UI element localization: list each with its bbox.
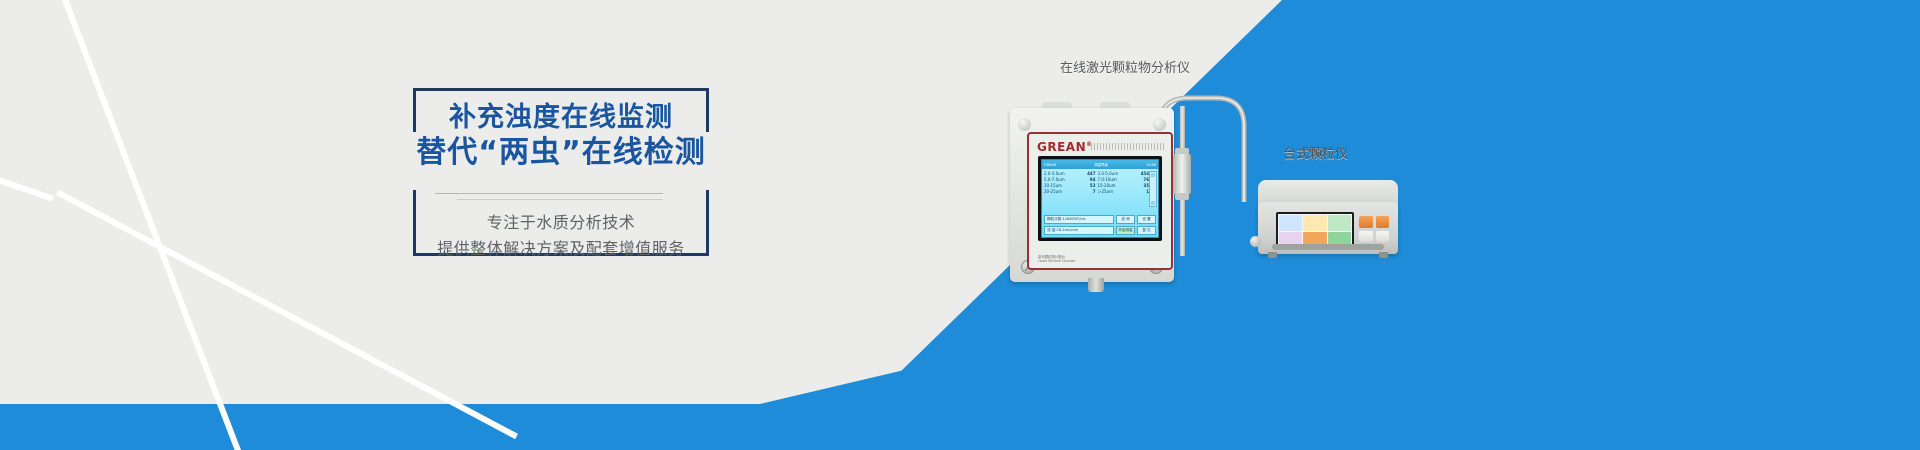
table-cell-range: 2.0-3.0um: [1044, 171, 1069, 176]
bench-screen-tile: [1279, 215, 1302, 231]
table-cell-count: 7: [1071, 189, 1096, 195]
page-title: 补充浊度在线监测 替代“两虫”在线检测: [413, 102, 709, 172]
bench-key[interactable]: [1359, 216, 1373, 228]
table-cell-count: 1: [1124, 189, 1149, 195]
table-cell-range: 10-15um: [1044, 183, 1069, 188]
headline-block: 补充浊度在线监测 替代“两虫”在线检测 专注于水质分析技术 提供整体解决方案及配…: [413, 88, 709, 256]
bench-foot: [1268, 252, 1277, 258]
online-laser-particle-analyzer: GREAN® GREAN 测量界面 10:46 2.0-3.0um 447: [1004, 100, 1180, 290]
analyzer-lcd[interactable]: GREAN 测量界面 10:46 2.0-3.0um 447 3.0-5.0um…: [1038, 156, 1162, 241]
headline-line-1: 补充浊度在线监测: [413, 102, 709, 135]
analyzer-model-en: Laser Particle Counter: [1038, 259, 1075, 264]
settings-button[interactable]: 设 置: [1137, 215, 1156, 224]
lcd-header-center: 测量界面: [1094, 162, 1108, 167]
lcd-row: 颗粒计数:1166CNT/mL 查 询 设 置: [1044, 215, 1156, 224]
particle-count-table: 2.0-3.0um 447 3.0-5.0um 454 5.0-7.0um 94…: [1044, 171, 1149, 195]
analyzer-cable-gland: [1088, 278, 1104, 292]
table-cell-range: ＞25um: [1098, 189, 1123, 195]
table-cell-count: 94: [1071, 177, 1096, 182]
bench-key[interactable]: [1376, 216, 1390, 228]
divider-lower: [457, 199, 663, 200]
headline-line-2: 替代“两虫”在线检测: [413, 135, 709, 172]
analyzer-vent-hatching: [1091, 143, 1164, 150]
benchtop-particle-counter: [1258, 180, 1398, 265]
table-cell-range: 3.0-5.0um: [1098, 171, 1123, 176]
analyzer-sensor-cap-bottom: [1175, 193, 1189, 200]
brand-name: GREAN: [1037, 140, 1086, 154]
divider-upper: [435, 193, 663, 194]
decorative-diagonal-line-1: [58, 0, 343, 450]
lcd-row: 流 量:78.2mL/min 开始测量 复 位: [1044, 226, 1156, 235]
bench-body: [1258, 202, 1398, 254]
table-cell-range: 7.0-10um: [1098, 177, 1123, 182]
lcd-status-rows: 颗粒计数:1166CNT/mL 查 询 设 置 流 量:78.2mL/min 开…: [1044, 213, 1156, 235]
table-cell-count: 76: [1124, 177, 1149, 182]
particle-count-field: 颗粒计数:1166CNT/mL: [1044, 215, 1114, 224]
bench-keypad[interactable]: [1359, 216, 1389, 242]
analyzer-sensor-cylinder: [1173, 154, 1191, 194]
analyzer-front-bezel: GREAN® GREAN 测量界面 10:46 2.0-3.0um 447: [1027, 132, 1173, 270]
table-cell-count: 52: [1071, 183, 1096, 188]
bench-key[interactable]: [1359, 231, 1373, 243]
subtitle-line-1: 专注于水质分析技术: [413, 210, 709, 236]
table-cell-count: 35: [1124, 183, 1149, 188]
subtitle-line-2: 提供整体解决方案及配套增值服务: [413, 236, 709, 262]
bench-foot: [1379, 252, 1388, 258]
table-cell-range: 5.0-7.0um: [1044, 177, 1069, 182]
bench-front-slot: [1272, 244, 1384, 250]
analyzer-enclosure: GREAN® GREAN 测量界面 10:46 2.0-3.0um 447: [1010, 108, 1174, 282]
table-cell-range: 20-25um: [1044, 189, 1069, 195]
bench-screen-tile: [1328, 215, 1351, 231]
table-cell-count: 454: [1124, 171, 1149, 176]
lcd-header-left: GREAN: [1044, 163, 1056, 167]
product-label-bench-counter: 台式颗粒仪: [1283, 143, 1348, 162]
query-button[interactable]: 查 询: [1116, 215, 1135, 224]
lcd-header-right: 10:46: [1146, 163, 1156, 167]
bench-screen-tile: [1303, 215, 1326, 231]
brand-logo: GREAN®: [1037, 140, 1093, 154]
background-blue-bottom-bar: [0, 404, 1920, 450]
promo-banner: 补充浊度在线监测 替代“两虫”在线检测 专注于水质分析技术 提供整体解决方案及配…: [0, 0, 1920, 450]
lcd-scrollbar[interactable]: [1149, 171, 1157, 207]
table-cell-range: 15-20um: [1098, 183, 1123, 188]
table-cell-count: 447: [1071, 171, 1096, 176]
decorative-diagonal-line-3: [0, 53, 54, 202]
analyzer-model-caption: 激光颗粒物计数仪 Laser Particle Counter: [1038, 255, 1075, 264]
bench-key[interactable]: [1376, 231, 1390, 243]
bench-side-knob: [1250, 236, 1261, 247]
flow-rate-field: 流 量:78.2mL/min: [1044, 226, 1114, 235]
start-measure-button[interactable]: 开始测量: [1116, 226, 1135, 235]
lcd-title-bar: GREAN 测量界面 10:46: [1042, 160, 1158, 169]
subtitle: 专注于水质分析技术 提供整体解决方案及配套增值服务: [413, 210, 709, 262]
analyzer-corner-knob: [1018, 118, 1031, 131]
divider-group: [413, 193, 709, 200]
product-label-analyzer: 在线激光颗粒物分析仪: [1060, 57, 1190, 76]
analyzer-corner-knob: [1153, 118, 1166, 131]
reset-button[interactable]: 复 位: [1137, 226, 1156, 235]
